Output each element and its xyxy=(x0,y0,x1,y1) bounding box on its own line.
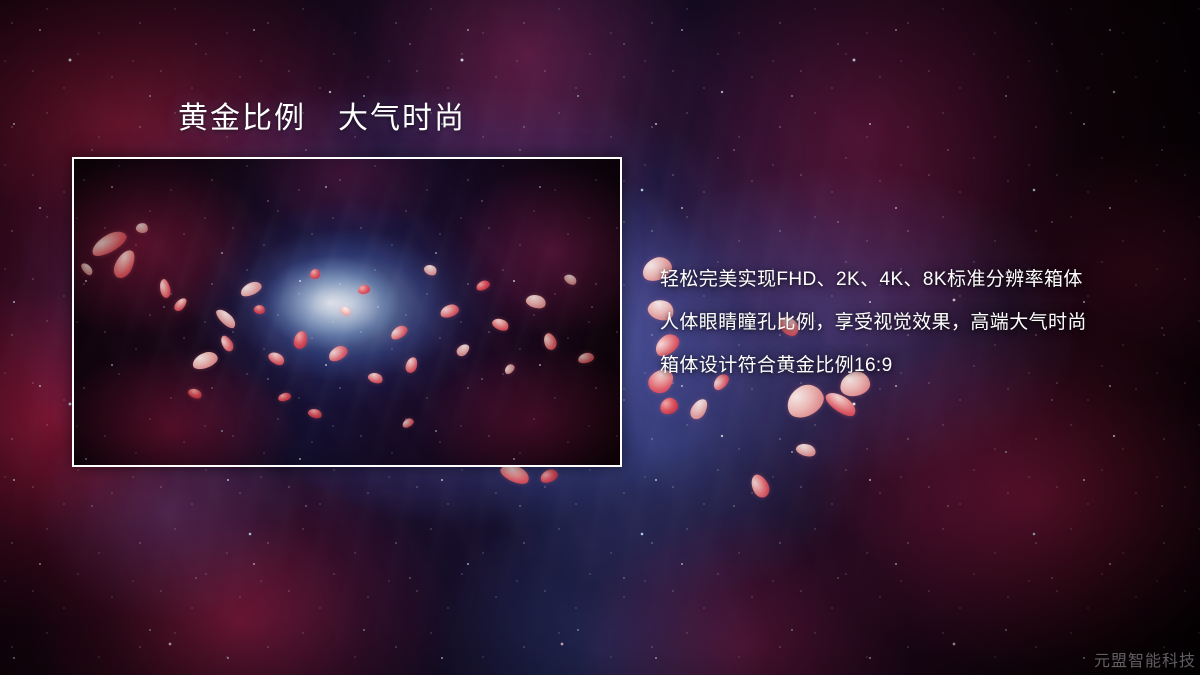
slide-title: 黄金比例 大气时尚 xyxy=(178,100,466,138)
description-line-1: 轻松完美实现FHD、2K、4K、8K标准分辨率箱体 xyxy=(660,258,1180,301)
presentation-slide: 黄金比例 大气时尚 轻松完美实现FHD、2K、4K、8K标准分辨率箱体 人体眼睛… xyxy=(0,0,1200,675)
galaxy-preview-panel[interactable] xyxy=(72,157,622,467)
petal xyxy=(688,396,711,422)
petal xyxy=(823,388,860,421)
petal xyxy=(538,467,559,484)
preview-artwork xyxy=(72,157,622,467)
description-line-2: 人体眼睛瞳孔比例，享受视觉效果，高端大气时尚 xyxy=(660,301,1180,344)
company-watermark: 元盟智能科技 xyxy=(1094,647,1196,671)
preview-vignette xyxy=(72,157,622,467)
petal xyxy=(795,441,818,459)
petal xyxy=(747,472,773,501)
description-line-3: 箱体设计符合黄金比例16:9 xyxy=(660,344,1180,387)
petal xyxy=(659,396,680,415)
feature-description: 轻松完美实现FHD、2K、4K、8K标准分辨率箱体 人体眼睛瞳孔比例，享受视觉效… xyxy=(660,258,1180,387)
